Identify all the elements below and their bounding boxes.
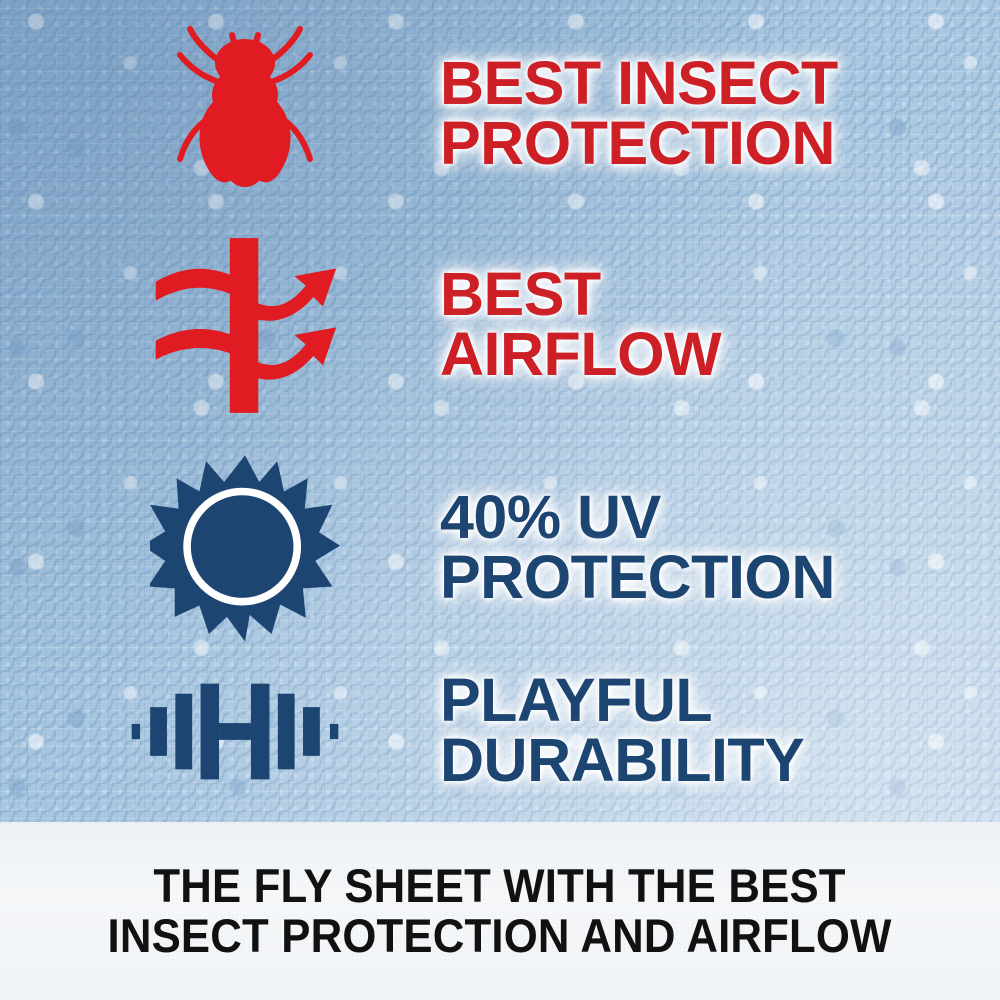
dumbbell-icon (130, 664, 340, 799)
feature-label-uv-protection: 40% UV PROTECTION (440, 488, 835, 608)
caption-headline: THE FLY SHEET WITH THE BEST INSECT PROTE… (108, 861, 892, 961)
feature-row-durability: PLAYFUL DURABILITY (130, 656, 980, 806)
fly-icon (150, 19, 340, 209)
feature-row-airflow: BEST AIRFLOW (150, 225, 980, 425)
sun-uv-icon (150, 451, 340, 646)
feature-label-airflow: BEST AIRFLOW (440, 265, 721, 385)
caption-band: THE FLY SHEET WITH THE BEST INSECT PROTE… (0, 822, 1000, 1000)
airflow-through-fabric-icon (150, 228, 340, 423)
infographic-poster: BEST INSECT PROTECTION BEST AIRFLOW (0, 0, 1000, 1000)
feature-row-insect-protection: BEST INSECT PROTECTION (150, 14, 980, 214)
feature-label-durability: PLAYFUL DURABILITY (440, 671, 804, 791)
feature-label-insect-protection: BEST INSECT PROTECTION (440, 54, 838, 174)
feature-row-uv-protection: 40% UV PROTECTION (150, 448, 980, 648)
